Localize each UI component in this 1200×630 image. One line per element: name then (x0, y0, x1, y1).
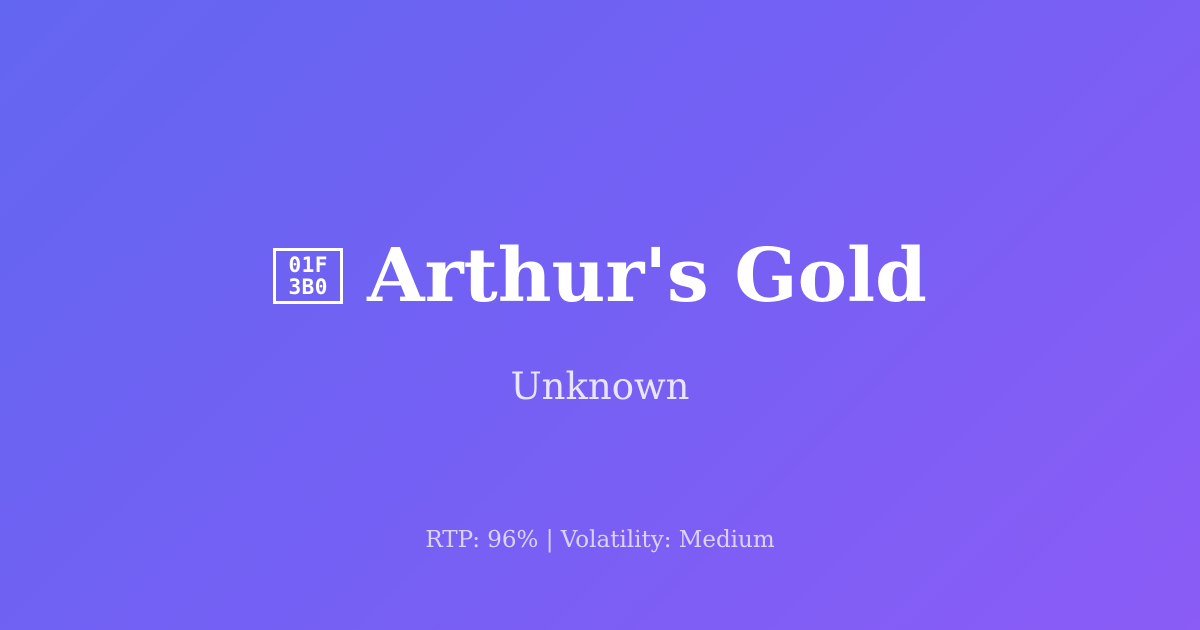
slot-machine-emoji-icon: 01F 3B0 (273, 248, 343, 304)
game-meta-line: RTP: 96% | Volatility: Medium (0, 528, 1200, 553)
page-subtitle: Unknown (0, 367, 1200, 408)
tofu-codepoint-bottom: 3B0 (288, 276, 327, 298)
page-title: Arthur's Gold (367, 239, 927, 313)
tofu-codepoint-top: 01F (288, 254, 327, 276)
title-row: 01F 3B0 Arthur's Gold (0, 228, 1200, 324)
og-card: 01F 3B0 Arthur's Gold Unknown RTP: 96% |… (0, 0, 1200, 630)
